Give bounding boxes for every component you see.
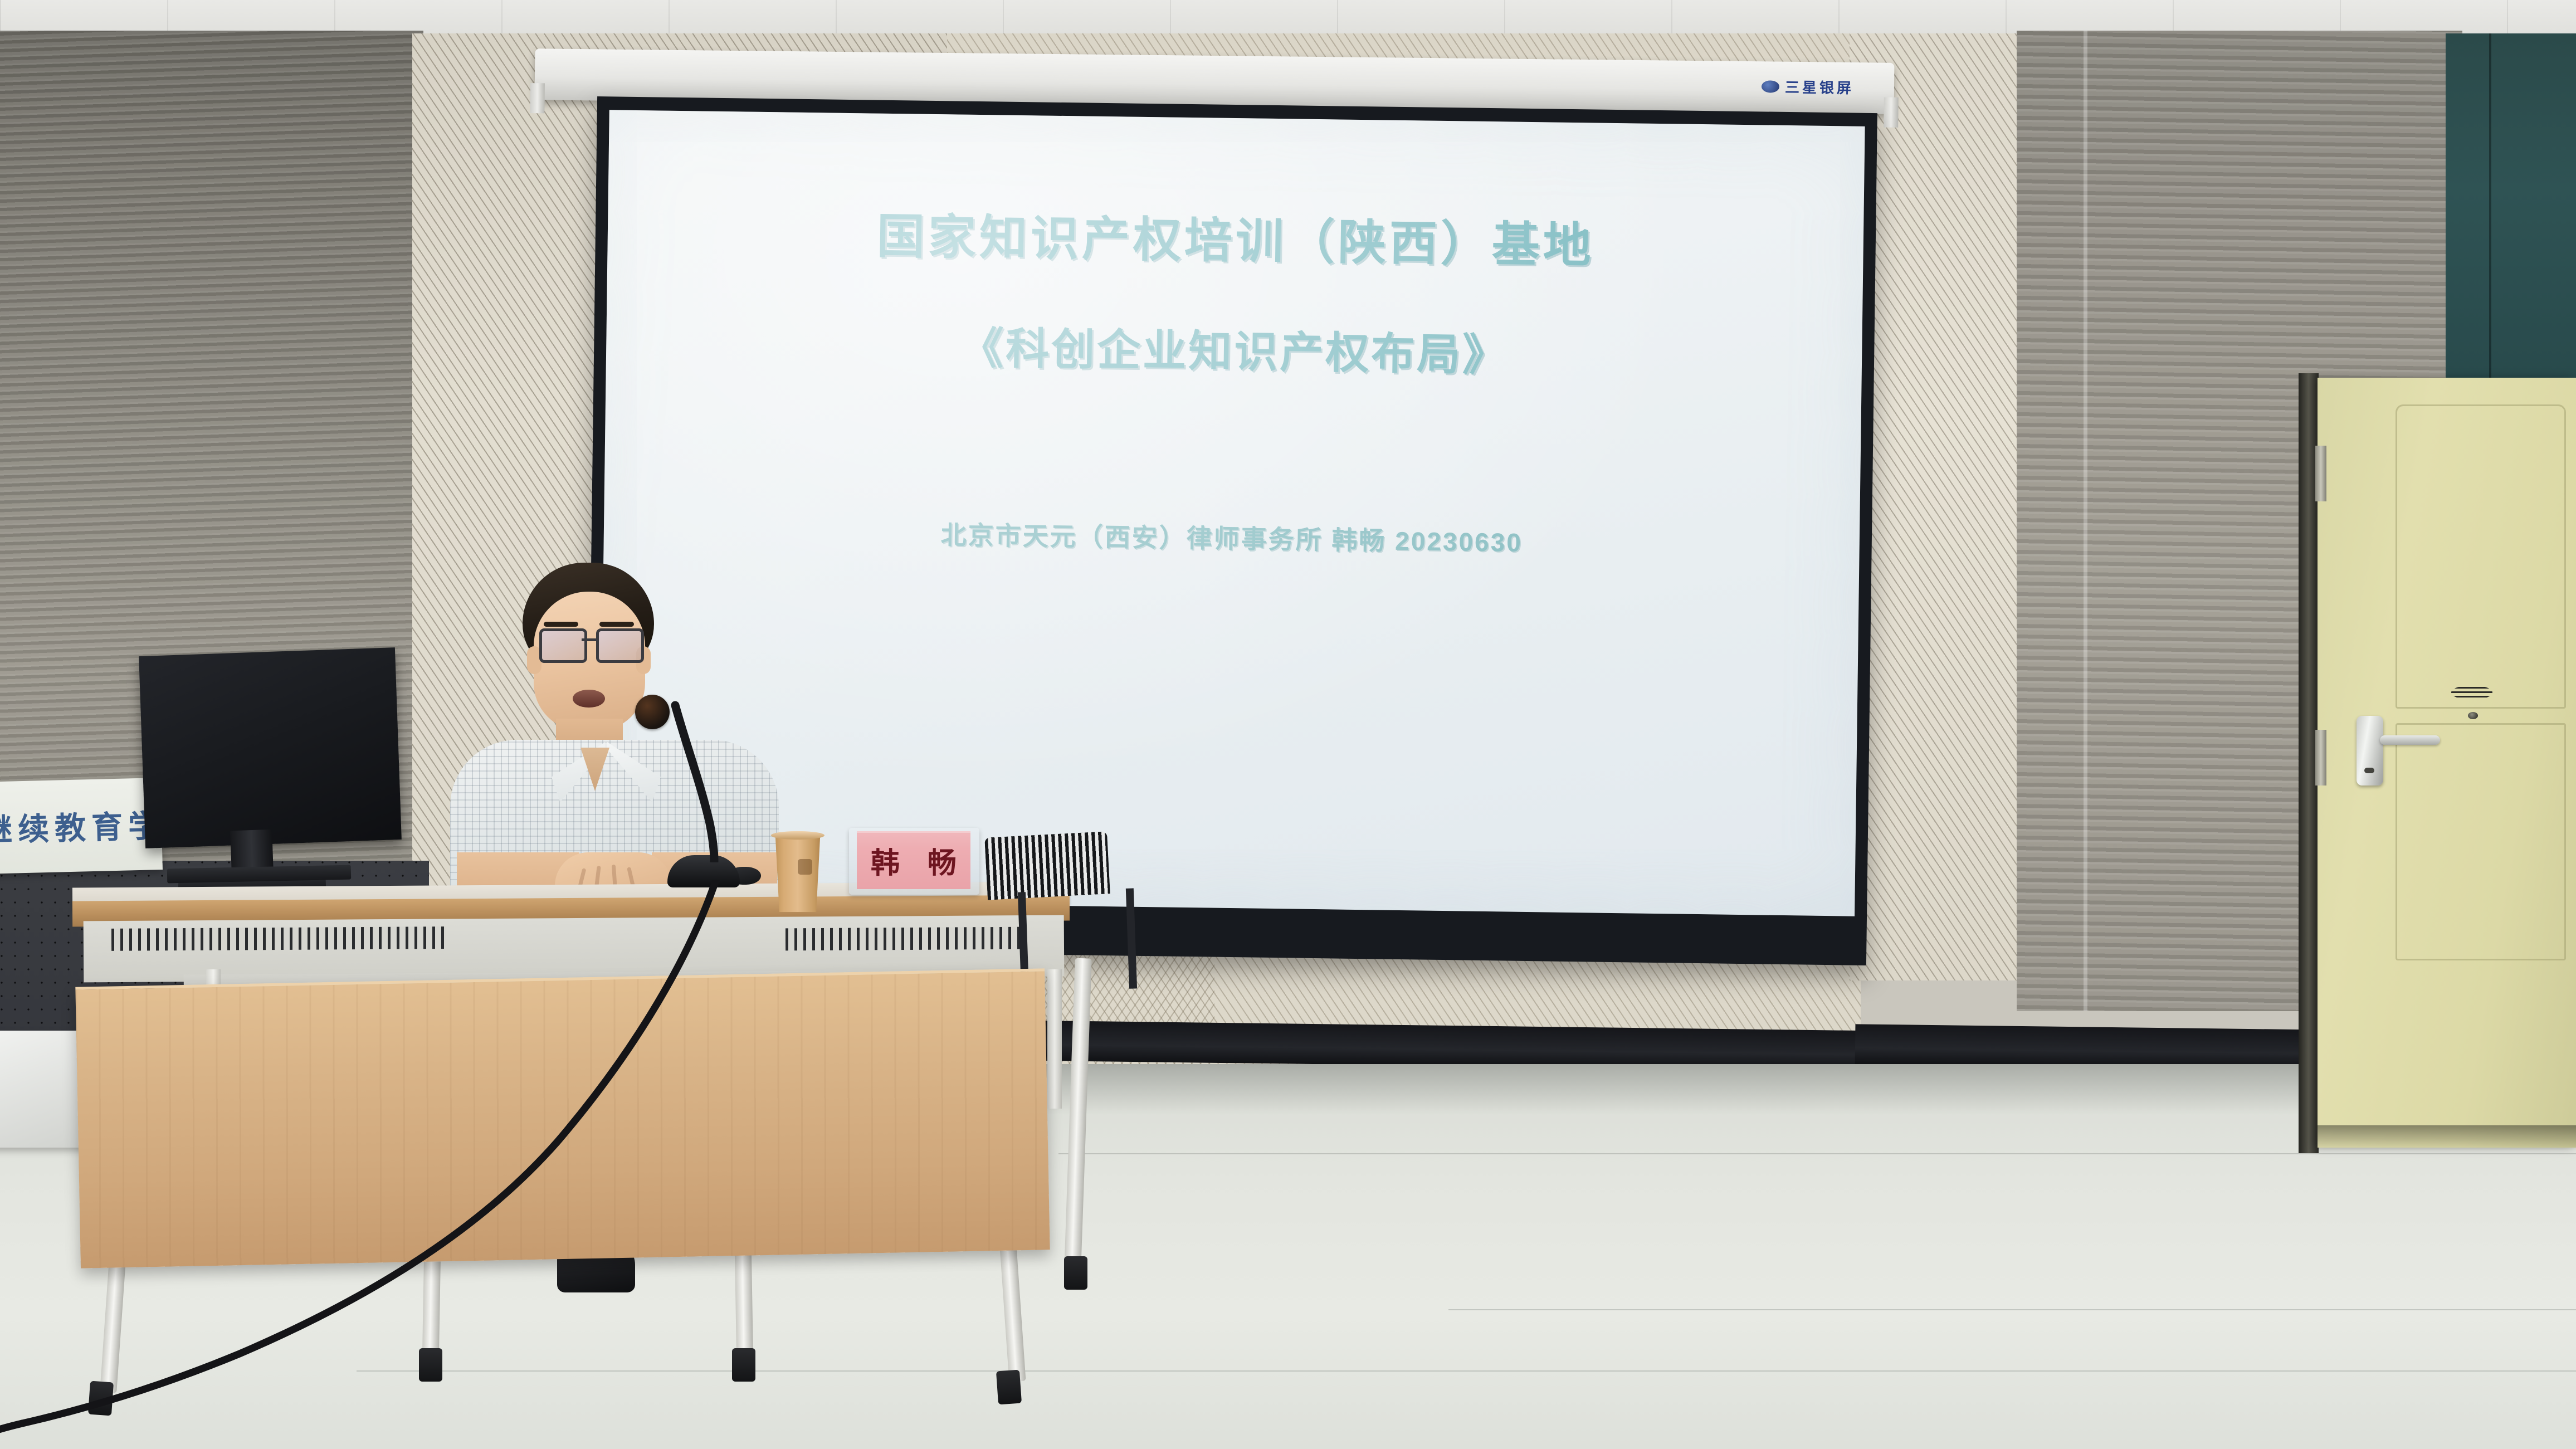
wall-sign-continuing-education: 继续教育学院 xyxy=(0,778,163,874)
folding-table-foot-3 xyxy=(732,1348,755,1382)
presenter-brow-left xyxy=(544,622,578,627)
door-handle-plate[interactable] xyxy=(2357,716,2383,786)
door-vent-grille xyxy=(2451,685,2492,700)
screen-bracket-left xyxy=(530,83,545,113)
wall-marble-seam xyxy=(2084,31,2087,1011)
slide-title: 国家知识产权培训（陕西）基地 xyxy=(876,197,1595,276)
rear-table-foot-right xyxy=(1064,1256,1087,1290)
door-panel-upper xyxy=(2396,404,2566,709)
presentation-slide: 国家知识产权培训（陕西）基地 《科创企业知识产权布局》 北京市天元（西安）律师事… xyxy=(599,110,1865,916)
nameplate-char-givenname: 畅 xyxy=(928,840,957,881)
wall-teal-seam xyxy=(2489,33,2491,423)
presenter-brow-right xyxy=(599,622,634,627)
folding-table-foot-4 xyxy=(996,1370,1022,1405)
photo-scene: 继续教育学院 三星银屏 国家知识产权培训（陕西）基地 《科创企业知识产权布局》 … xyxy=(0,0,2576,1449)
podium-vent-left xyxy=(111,926,446,951)
paper-cup-logo xyxy=(798,859,812,875)
wall-panel-teal xyxy=(2446,33,2576,423)
screen-bracket-right xyxy=(1884,97,1899,128)
door-peephole xyxy=(2468,712,2478,719)
microphone-head xyxy=(635,695,670,729)
floor-seam-1 xyxy=(1058,1153,2576,1154)
projection-screen-surface: 国家知识产权培训（陕西）基地 《科创企业知识产权布局》 北京市天元（西安）律师事… xyxy=(599,110,1865,916)
door-lever-handle[interactable] xyxy=(2380,735,2440,745)
podium-vent-right xyxy=(786,927,1025,951)
floor-seam-3 xyxy=(357,1370,2576,1372)
folding-table-top xyxy=(75,968,1050,1268)
door-panel-lower xyxy=(2396,723,2566,960)
glasses-lens-right xyxy=(596,628,644,663)
door-keyhole xyxy=(2364,768,2374,773)
slide-byline: 北京市天元（西安）律师事务所 韩畅 20230630 xyxy=(940,515,1523,559)
paper-cup-rim xyxy=(771,831,824,840)
computer-monitor xyxy=(139,647,402,848)
slide-subtitle: 《科创企业知识产权布局》 xyxy=(960,314,1509,383)
door-hinge-upper xyxy=(2315,446,2326,501)
screen-brand-label: 三星银屏 xyxy=(1785,76,1854,97)
folding-table-foot-1 xyxy=(88,1381,114,1416)
screen-brand-logo: 三星银屏 xyxy=(1762,76,1854,97)
presenter-mouth xyxy=(573,690,605,708)
brand-mark-icon xyxy=(1762,80,1779,92)
microphone-gooseneck xyxy=(652,701,735,862)
floor-seam-2 xyxy=(1448,1309,2576,1310)
door-hinge-lower xyxy=(2315,730,2326,786)
glasses-bridge xyxy=(582,638,596,641)
door-bottom-shadow xyxy=(2318,1125,2576,1151)
glasses-lens-left xyxy=(539,628,587,663)
nameplate-char-surname: 韩 xyxy=(871,840,900,881)
nameplate: 韩 畅 xyxy=(857,831,970,889)
folding-table-foot-2 xyxy=(419,1348,442,1382)
